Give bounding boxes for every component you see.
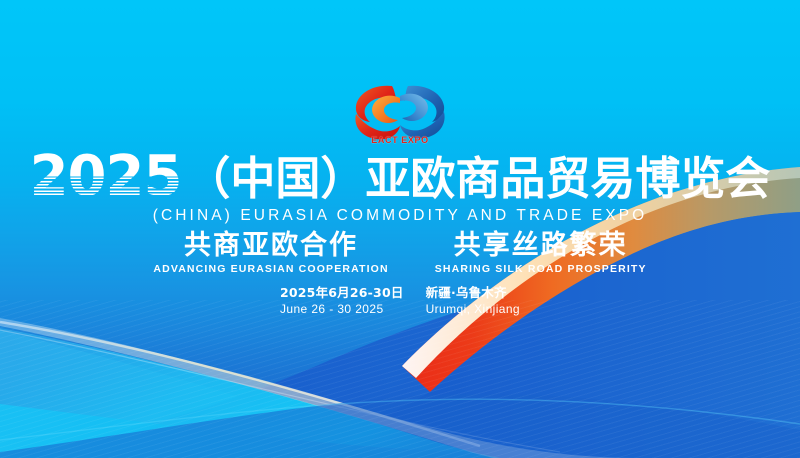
slogan-first-chinese: 共商亚欧合作 <box>153 231 388 261</box>
title-chinese: （中国）亚欧商品贸易博览会 <box>185 156 770 201</box>
headline-row: 2025 （中国）亚欧商品贸易博览会 <box>30 150 771 203</box>
event-date-chinese: 2025年6月26-30日 <box>280 285 404 301</box>
slogan-second-english: SHARING SILK ROAD PROSPERITY <box>435 263 647 275</box>
logo-orange-mid <box>372 96 400 123</box>
expo-banner: EACT EXPO 2025 （中国）亚欧商品贸易博览会 (CHINA) EUR… <box>0 0 800 458</box>
cyan-wave-left <box>0 328 640 458</box>
slogans-block: 共商亚欧合作 ADVANCING EURASIAN COOPERATION 共享… <box>0 231 800 275</box>
title-english: (CHINA) EURASIA COMMODITY AND TRADE EXPO <box>0 208 800 224</box>
logo-wordmark: EACT EXPO <box>348 135 452 145</box>
lower-blue-fill <box>0 394 800 458</box>
diagonal-stripe-texture <box>0 300 800 458</box>
cyan-wave-edge <box>0 318 640 458</box>
slogan-second-chinese: 共享丝路繁荣 <box>435 231 647 261</box>
lower-cyan-curve <box>0 399 800 440</box>
decorative-waves <box>0 0 800 458</box>
slogan-first: 共商亚欧合作 ADVANCING EURASIAN COOPERATION <box>153 231 388 275</box>
cyan-sheen-line <box>0 322 480 446</box>
eact-expo-logo: EACT EXPO <box>348 82 452 144</box>
logo-container: EACT EXPO <box>0 82 800 144</box>
cyan-band-low <box>0 404 470 458</box>
year-text: 2025 <box>30 150 186 203</box>
event-place-chinese: 新疆·乌鲁木齐 <box>426 285 520 301</box>
deep-blue-base <box>0 250 800 458</box>
event-date-english: June 26 - 30 2025 <box>280 302 404 317</box>
event-place-english: Urumqi, Xinjiang <box>426 302 520 317</box>
slogan-first-english: ADVANCING EURASIAN COOPERATION <box>153 263 388 275</box>
event-meta-block: 2025年6月26-30日 June 26 - 30 2025 新疆·乌鲁木齐 … <box>0 285 800 317</box>
soft-glow-shape <box>0 330 420 458</box>
slogan-second: 共享丝路繁荣 SHARING SILK ROAD PROSPERITY <box>435 231 647 275</box>
faint-sheen-line <box>0 330 560 452</box>
event-date: 2025年6月26-30日 June 26 - 30 2025 <box>280 285 404 317</box>
event-place: 新疆·乌鲁木齐 Urumqi, Xinjiang <box>426 285 520 317</box>
headline-block: 2025 （中国）亚欧商品贸易博览会 (CHINA) EURASIA COMMO… <box>0 150 800 224</box>
